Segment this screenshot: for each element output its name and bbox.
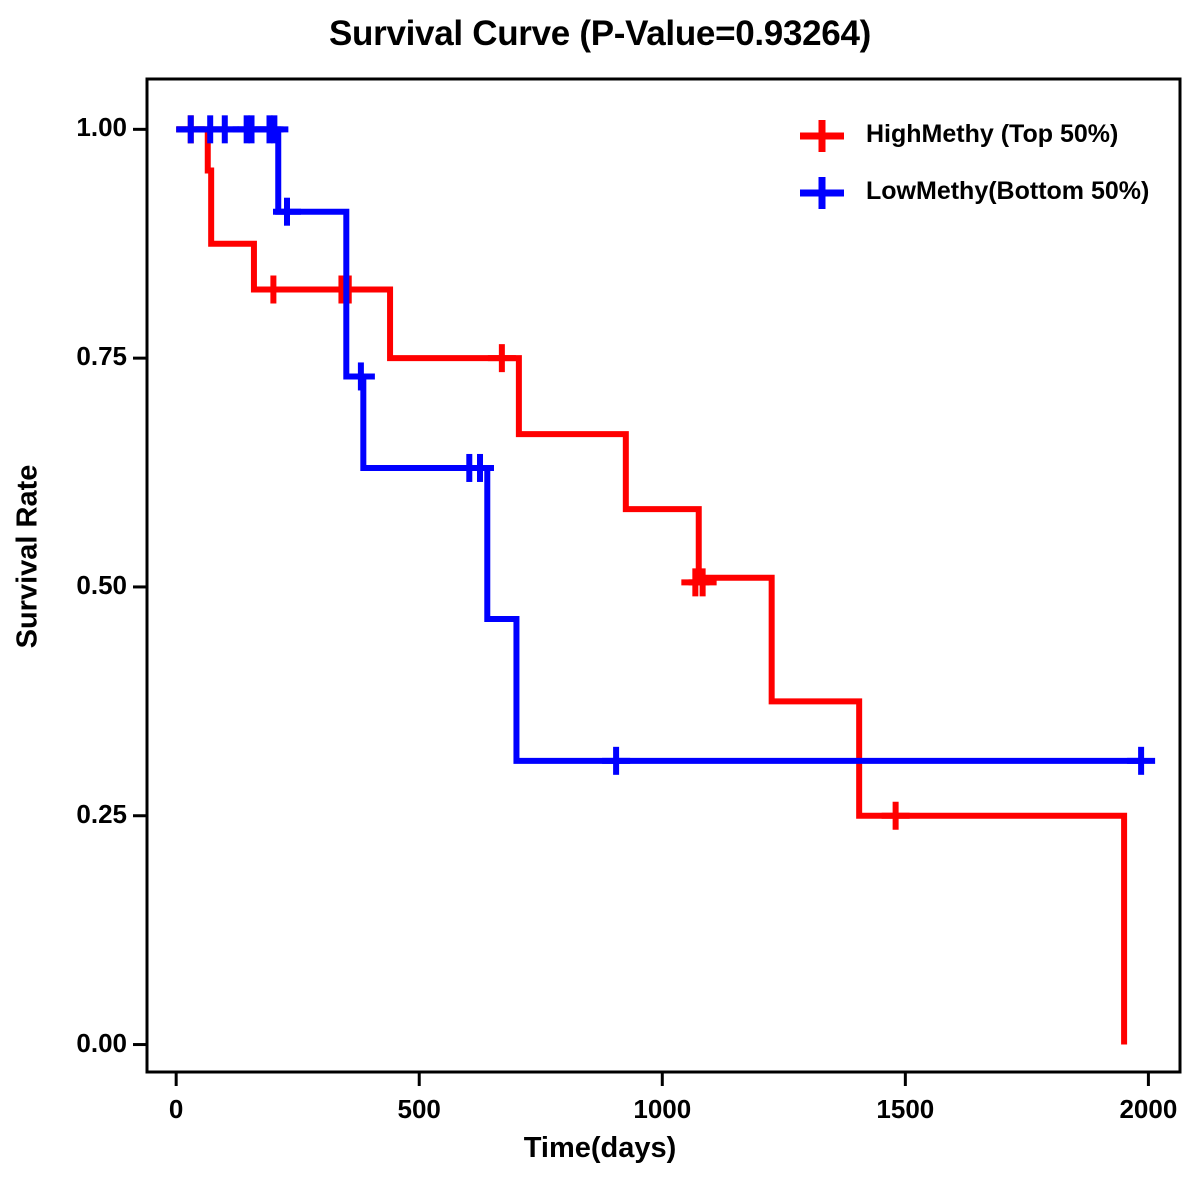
x-tick-label-2000: 2000 [1088,1094,1200,1125]
y-tick-label-0.25: 0.25 [37,799,127,830]
step-line [176,129,1124,1044]
censor-mark [488,344,516,372]
censor-mark [260,115,288,143]
series-high-methy [176,115,1124,1044]
y-tick-label-0.00: 0.00 [37,1028,127,1059]
y-tick-label-0.50: 0.50 [37,570,127,601]
x-tick-label-1000: 1000 [602,1094,722,1125]
legend-marker-1 [800,177,844,209]
legend-item-label-1: LowMethy(Bottom 50%) [866,177,1149,206]
y-tick-label-0.75: 0.75 [37,341,127,372]
axis-ticks [133,129,1148,1086]
censor-mark [882,802,910,830]
legend-markers [800,120,844,209]
y-tick-label-1.00: 1.00 [37,112,127,143]
x-tick-label-500: 500 [359,1094,479,1125]
x-tick-label-0: 0 [116,1094,236,1125]
plot-border [147,79,1180,1072]
step-line [176,129,1143,760]
series-low-methy [176,115,1155,774]
legend-marker-0 [800,120,844,152]
axes-frame [147,79,1180,1072]
survival-curve-figure: Survival Curve (P-Value=0.93264) Surviva… [0,0,1200,1200]
x-tick-label-1500: 1500 [845,1094,965,1125]
series-layer [176,115,1155,1044]
legend-item-label-0: HighMethy (Top 50%) [866,120,1118,149]
censor-mark [347,362,375,390]
censor-mark [259,275,287,303]
censor-mark [1127,747,1155,775]
censor-mark [602,747,630,775]
